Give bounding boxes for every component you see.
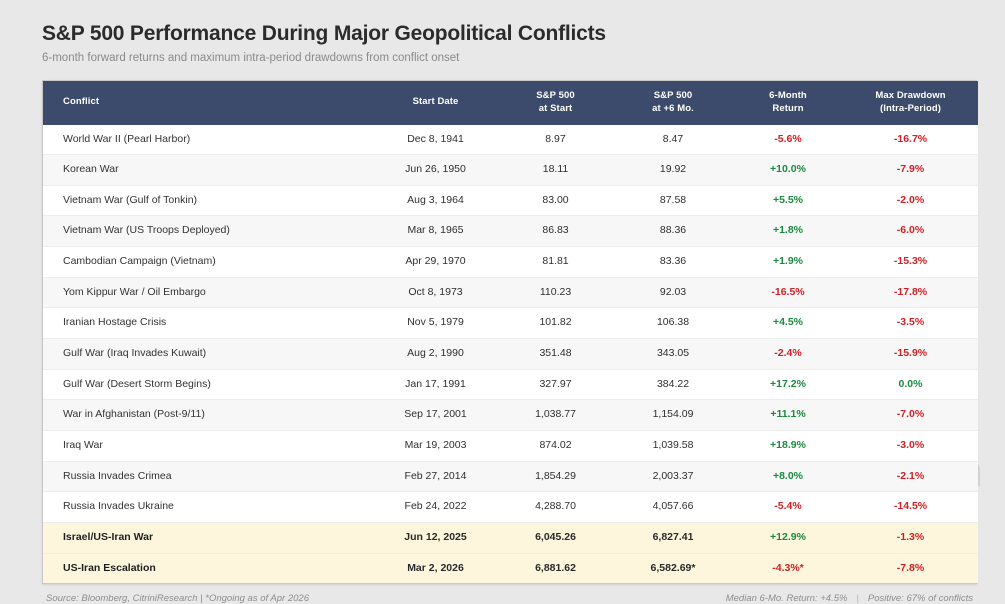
cell-conflict: Israel/US-Iran War (43, 522, 373, 553)
cell-6month-return: +5.5% (733, 185, 843, 216)
cell-sp-at-start: 1,854.29 (498, 461, 613, 492)
cell-max-drawdown: -17.8% (843, 277, 978, 308)
cell-start-date-value: Aug 2, 1990 (407, 347, 464, 359)
cell-sp-at-6mo: 8.47 (613, 125, 733, 155)
cell-sp-at-6mo: 2,003.37 (613, 461, 733, 492)
cell-start-date: Jun 26, 1950 (373, 155, 498, 186)
column-header-sp-at-6mo-line1: S&P 500 (654, 90, 693, 101)
column-header-max-drawdown-line2: (Intra-Period) (880, 103, 941, 114)
cell-sp-at-start-value: 18.11 (543, 163, 569, 175)
cell-sp-at-start: 6,881.62 (498, 553, 613, 583)
cell-sp-at-6mo-value: 88.36 (660, 224, 686, 236)
cell-start-date: Sep 17, 2001 (373, 400, 498, 431)
cell-max-drawdown: -7.0% (843, 400, 978, 431)
cell-max-drawdown: -7.8% (843, 553, 978, 583)
cell-start-date-value: Feb 27, 2014 (405, 470, 467, 482)
cell-sp-at-6mo-value: 8.47 (663, 133, 683, 145)
cell-start-date-value: Mar 8, 1965 (407, 224, 463, 236)
cell-6month-return: +12.9% (733, 522, 843, 553)
cell-sp-at-start-value: 6,045.26 (535, 531, 576, 543)
cell-sp-at-6mo: 83.36 (613, 247, 733, 278)
cell-start-date: Jan 17, 1991 (373, 369, 498, 400)
cell-conflict-value: World War II (Pearl Harbor) (63, 133, 190, 145)
cell-sp-at-start-value: 327.97 (539, 378, 571, 390)
table-header: Conflict Start Date S&P 500 at Start S&P… (43, 81, 978, 125)
table-row[interactable]: US-Iran EscalationMar 2, 20266,881.626,5… (43, 553, 978, 583)
cell-start-date-value: Nov 5, 1979 (407, 316, 464, 328)
cell-sp-at-start: 874.02 (498, 430, 613, 461)
cell-conflict: Russia Invades Crimea (43, 461, 373, 492)
cell-max-drawdown: -15.9% (843, 339, 978, 370)
cell-sp-at-start-value: 874.02 (539, 439, 571, 451)
cell-conflict-value: Iranian Hostage Crisis (63, 316, 166, 328)
cell-start-date: Mar 19, 2003 (373, 430, 498, 461)
cell-sp-at-6mo-value: 384.22 (657, 378, 689, 390)
table-body: World War II (Pearl Harbor)Dec 8, 19418.… (43, 125, 978, 584)
cell-conflict: Vietnam War (Gulf of Tonkin) (43, 185, 373, 216)
cell-6month-return: +8.0% (733, 461, 843, 492)
cell-max-drawdown-value: 0.0% (899, 378, 923, 390)
cell-max-drawdown-value: -7.0% (897, 408, 924, 420)
cell-sp-at-6mo-value: 1,154.09 (653, 408, 694, 420)
cell-conflict-value: Gulf War (Iraq Invades Kuwait) (63, 347, 206, 359)
cell-6month-return: +4.5% (733, 308, 843, 339)
cell-sp-at-6mo: 4,057.66 (613, 492, 733, 523)
cell-sp-at-start-value: 101.82 (539, 316, 571, 328)
cell-conflict: Gulf War (Desert Storm Begins) (43, 369, 373, 400)
cell-conflict-value: Russia Invades Ukraine (63, 500, 174, 512)
page-container: S&P 500 Performance During Major Geopoli… (0, 0, 1005, 546)
cell-sp-at-start: 110.23 (498, 277, 613, 308)
cell-conflict: Iraq War (43, 430, 373, 461)
cell-max-drawdown-value: -16.7% (894, 133, 927, 145)
cell-sp-at-start: 18.11 (498, 155, 613, 186)
column-header-6month-return-line2: Return (772, 103, 803, 114)
cell-sp-at-6mo-value: 1,039.58 (653, 439, 694, 451)
cell-6month-return: +11.1% (733, 400, 843, 431)
cell-max-drawdown: 0.0% (843, 369, 978, 400)
footer-source: Source: Bloomberg, CitriniResearch | *On… (46, 593, 309, 604)
cell-max-drawdown-value: -15.9% (894, 347, 927, 359)
cell-conflict-value: Vietnam War (US Troops Deployed) (63, 224, 230, 236)
cell-start-date-value: Mar 19, 2003 (405, 439, 467, 451)
cell-start-date-value: Aug 3, 1964 (407, 194, 464, 206)
cell-6month-return-value: -5.4% (774, 500, 801, 512)
cell-max-drawdown: -16.7% (843, 125, 978, 155)
cell-6month-return-value: -2.4% (774, 347, 801, 359)
cell-6month-return-value: +11.1% (770, 408, 805, 420)
cell-max-drawdown-value: -17.8% (894, 286, 927, 298)
conflicts-table: Conflict Start Date S&P 500 at Start S&P… (43, 81, 978, 583)
cell-sp-at-6mo: 88.36 (613, 216, 733, 247)
cell-sp-at-6mo: 19.92 (613, 155, 733, 186)
column-header-max-drawdown-line1: Max Drawdown (875, 90, 945, 101)
cell-sp-at-6mo-value: 83.36 (660, 255, 686, 267)
cell-sp-at-start: 4,288.70 (498, 492, 613, 523)
table-row[interactable]: World War II (Pearl Harbor)Dec 8, 19418.… (43, 125, 978, 155)
cell-6month-return: +1.8% (733, 216, 843, 247)
table-row[interactable]: Russia Invades UkraineFeb 24, 20224,288.… (43, 492, 978, 523)
cell-sp-at-6mo-value: 87.58 (660, 194, 686, 206)
cell-max-drawdown: -3.5% (843, 308, 978, 339)
cell-conflict-value: Gulf War (Desert Storm Begins) (63, 378, 211, 390)
table-row[interactable]: Vietnam War (Gulf of Tonkin)Aug 3, 19648… (43, 185, 978, 216)
table-row[interactable]: Yom Kippur War / Oil EmbargoOct 8, 19731… (43, 277, 978, 308)
table-row[interactable]: Vietnam War (US Troops Deployed)Mar 8, 1… (43, 216, 978, 247)
cell-sp-at-6mo: 6,582.69* (613, 553, 733, 583)
cell-start-date: Dec 8, 1941 (373, 125, 498, 155)
table-row[interactable]: War in Afghanistan (Post-9/11)Sep 17, 20… (43, 400, 978, 431)
table-row[interactable]: Israel/US-Iran WarJun 12, 20256,045.266,… (43, 522, 978, 553)
cell-conflict: US-Iran Escalation (43, 553, 373, 583)
column-header-sp-at-6mo[interactable]: S&P 500 at +6 Mo. (613, 81, 733, 125)
cell-max-drawdown: -7.9% (843, 155, 978, 186)
cell-start-date: Oct 8, 1973 (373, 277, 498, 308)
cell-sp-at-6mo-value: 4,057.66 (653, 500, 694, 512)
cell-max-drawdown: -6.0% (843, 216, 978, 247)
cell-6month-return-value: +12.9% (770, 531, 806, 543)
cell-sp-at-start-value: 1,038.77 (535, 408, 576, 420)
cell-sp-at-start: 81.81 (498, 247, 613, 278)
cell-sp-at-start: 1,038.77 (498, 400, 613, 431)
cell-sp-at-start-value: 1,854.29 (535, 470, 576, 482)
cell-6month-return-value: +10.0% (770, 163, 806, 175)
column-header-sp-at-start-line2: at Start (539, 103, 573, 114)
cell-max-drawdown: -15.3% (843, 247, 978, 278)
cell-sp-at-start-value: 4,288.70 (535, 500, 576, 512)
table-row[interactable]: Gulf War (Iraq Invades Kuwait)Aug 2, 199… (43, 339, 978, 370)
cell-6month-return: -2.4% (733, 339, 843, 370)
cell-sp-at-6mo: 87.58 (613, 185, 733, 216)
cell-6month-return: -5.4% (733, 492, 843, 523)
cell-6month-return-value: +1.9% (773, 255, 803, 267)
table-row[interactable]: Russia Invades CrimeaFeb 27, 20141,854.2… (43, 461, 978, 492)
cell-conflict-value: Yom Kippur War / Oil Embargo (63, 286, 206, 298)
cell-sp-at-6mo: 1,039.58 (613, 430, 733, 461)
cell-sp-at-6mo: 343.05 (613, 339, 733, 370)
cell-start-date: Aug 3, 1964 (373, 185, 498, 216)
cell-6month-return: +10.0% (733, 155, 843, 186)
cell-6month-return-value: +17.2% (770, 378, 806, 390)
cell-sp-at-start: 101.82 (498, 308, 613, 339)
table-row[interactable]: Korean WarJun 26, 195018.1119.92+10.0%-7… (43, 155, 978, 186)
cell-max-drawdown: -2.1% (843, 461, 978, 492)
cell-sp-at-start: 8.97 (498, 125, 613, 155)
table-card: Conflict Start Date S&P 500 at Start S&P… (42, 80, 977, 584)
cell-conflict: Russia Invades Ukraine (43, 492, 373, 523)
cell-max-drawdown-value: -3.5% (897, 316, 924, 328)
cell-conflict: World War II (Pearl Harbor) (43, 125, 373, 155)
cell-start-date: Mar 2, 2026 (373, 553, 498, 583)
cell-max-drawdown: -14.5% (843, 492, 978, 523)
column-header-conflict[interactable]: Conflict (43, 81, 373, 125)
cell-6month-return: +1.9% (733, 247, 843, 278)
cell-6month-return-value: +5.5% (773, 194, 803, 206)
cell-max-drawdown-value: -2.0% (897, 194, 924, 206)
table-footer: Source: Bloomberg, CitriniResearch | *On… (42, 584, 977, 604)
cell-sp-at-6mo: 6,827.41 (613, 522, 733, 553)
cell-start-date-value: Oct 8, 1973 (408, 286, 462, 298)
cell-conflict-value: Korean War (63, 163, 119, 175)
cell-max-drawdown-value: -1.3% (897, 531, 924, 543)
cell-conflict: Vietnam War (US Troops Deployed) (43, 216, 373, 247)
cell-start-date-value: Jan 17, 1991 (405, 378, 466, 390)
cell-max-drawdown-value: -6.0% (897, 224, 924, 236)
page-title: S&P 500 Performance During Major Geopoli… (42, 22, 965, 46)
page-subtitle: 6-month forward returns and maximum intr… (42, 52, 965, 66)
cell-conflict: Yom Kippur War / Oil Embargo (43, 277, 373, 308)
cell-conflict-value: Vietnam War (Gulf of Tonkin) (63, 194, 197, 206)
cell-max-drawdown-value: -7.9% (897, 163, 924, 175)
cell-max-drawdown-value: -3.0% (897, 439, 924, 451)
footer-median-return: Median 6-Mo. Return: +4.5% (726, 593, 848, 604)
cell-6month-return: +18.9% (733, 430, 843, 461)
cell-start-date-value: Feb 24, 2022 (405, 500, 467, 512)
column-header-start-date[interactable]: Start Date (373, 81, 498, 125)
cell-6month-return: -5.6% (733, 125, 843, 155)
cell-sp-at-start-value: 83.00 (542, 194, 568, 206)
cell-sp-at-start-value: 86.83 (542, 224, 568, 236)
cell-6month-return: -16.5% (733, 277, 843, 308)
cell-sp-at-6mo-value: 19.92 (660, 163, 686, 175)
cell-6month-return-value: +1.8% (773, 224, 803, 236)
cell-max-drawdown: -1.3% (843, 522, 978, 553)
cell-sp-at-start: 6,045.26 (498, 522, 613, 553)
cell-6month-return-value: -16.5% (771, 286, 804, 298)
cell-start-date-value: Sep 17, 2001 (404, 408, 466, 420)
cell-max-drawdown-value: -2.1% (897, 470, 924, 482)
cell-6month-return-value: +18.9% (770, 439, 806, 451)
column-header-max-drawdown[interactable]: Max Drawdown (Intra-Period) (843, 81, 978, 125)
cell-conflict: Cambodian Campaign (Vietnam) (43, 247, 373, 278)
cell-conflict: Iranian Hostage Crisis (43, 308, 373, 339)
cell-sp-at-6mo: 106.38 (613, 308, 733, 339)
cell-start-date-value: Apr 29, 1970 (405, 255, 465, 267)
cell-max-drawdown: -2.0% (843, 185, 978, 216)
cell-start-date: Nov 5, 1979 (373, 308, 498, 339)
table-row[interactable]: Iraq WarMar 19, 2003874.021,039.58+18.9%… (43, 430, 978, 461)
cell-sp-at-start-value: 81.81 (542, 255, 568, 267)
column-header-start-date-label: Start Date (413, 96, 459, 107)
cell-sp-at-6mo-value: 6,827.41 (653, 531, 694, 543)
cell-sp-at-6mo-value: 106.38 (657, 316, 689, 328)
cell-conflict-value: US-Iran Escalation (63, 562, 156, 574)
cell-conflict-value: Iraq War (63, 439, 103, 451)
cell-max-drawdown-value: -15.3% (894, 255, 927, 267)
cell-start-date-value: Mar 2, 2026 (407, 562, 464, 574)
cell-sp-at-start: 327.97 (498, 369, 613, 400)
cell-6month-return: -4.3%* (733, 553, 843, 583)
cell-6month-return: +17.2% (733, 369, 843, 400)
cell-6month-return-value: +8.0% (773, 470, 803, 482)
cell-start-date: Aug 2, 1990 (373, 339, 498, 370)
cell-sp-at-start-value: 351.48 (539, 347, 571, 359)
cell-sp-at-start-value: 6,881.62 (535, 562, 576, 574)
cell-sp-at-6mo-value: 92.03 (660, 286, 686, 298)
cell-sp-at-6mo-value: 343.05 (657, 347, 689, 359)
cell-conflict: Korean War (43, 155, 373, 186)
cell-sp-at-start: 86.83 (498, 216, 613, 247)
column-header-6month-return[interactable]: 6-Month Return (733, 81, 843, 125)
cell-conflict: Gulf War (Iraq Invades Kuwait) (43, 339, 373, 370)
cell-6month-return-value: -5.6% (774, 133, 801, 145)
cell-max-drawdown-value: -7.8% (897, 562, 924, 574)
cell-sp-at-6mo: 92.03 (613, 277, 733, 308)
cell-start-date: Feb 27, 2014 (373, 461, 498, 492)
cell-start-date: Jun 12, 2025 (373, 522, 498, 553)
cell-max-drawdown: -3.0% (843, 430, 978, 461)
cell-6month-return-value: +4.5% (773, 316, 803, 328)
cell-conflict-value: War in Afghanistan (Post-9/11) (63, 408, 205, 420)
table-row[interactable]: Gulf War (Desert Storm Begins)Jan 17, 19… (43, 369, 978, 400)
cell-start-date-value: Jun 12, 2025 (404, 531, 466, 543)
cell-conflict-value: Israel/US-Iran War (63, 531, 153, 543)
column-header-sp-at-start-line1: S&P 500 (536, 90, 575, 101)
cell-conflict-value: Russia Invades Crimea (63, 470, 172, 482)
cell-sp-at-6mo: 1,154.09 (613, 400, 733, 431)
cell-6month-return-value: -4.3%* (772, 562, 804, 574)
cell-conflict-value: Cambodian Campaign (Vietnam) (63, 255, 216, 267)
footer-positive-share: Positive: 67% of conflicts (868, 593, 973, 604)
table-row[interactable]: Cambodian Campaign (Vietnam)Apr 29, 1970… (43, 247, 978, 278)
column-header-6month-return-line1: 6-Month (769, 90, 807, 101)
column-header-sp-at-start[interactable]: S&P 500 at Start (498, 81, 613, 125)
cell-sp-at-start: 83.00 (498, 185, 613, 216)
cell-sp-at-6mo-value: 2,003.37 (653, 470, 694, 482)
cell-sp-at-start: 351.48 (498, 339, 613, 370)
column-header-conflict-label: Conflict (63, 96, 99, 107)
footer-stats: Median 6-Mo. Return: +4.5% | Positive: 6… (726, 593, 973, 604)
cell-conflict: War in Afghanistan (Post-9/11) (43, 400, 373, 431)
cell-sp-at-start-value: 110.23 (540, 286, 571, 298)
cell-start-date: Feb 24, 2022 (373, 492, 498, 523)
table-row[interactable]: Iranian Hostage CrisisNov 5, 1979101.821… (43, 308, 978, 339)
cell-start-date: Apr 29, 1970 (373, 247, 498, 278)
column-header-sp-at-6mo-line2: at +6 Mo. (652, 103, 694, 114)
cell-start-date: Mar 8, 1965 (373, 216, 498, 247)
cell-sp-at-6mo: 384.22 (613, 369, 733, 400)
cell-start-date-value: Dec 8, 1941 (407, 133, 464, 145)
table-header-row: Conflict Start Date S&P 500 at Start S&P… (43, 81, 978, 125)
cell-sp-at-6mo-value: 6,582.69* (651, 562, 696, 574)
footer-separator: | (856, 593, 858, 604)
cell-sp-at-start-value: 8.97 (545, 133, 565, 145)
cell-start-date-value: Jun 26, 1950 (405, 163, 466, 175)
cell-max-drawdown-value: -14.5% (894, 500, 927, 512)
